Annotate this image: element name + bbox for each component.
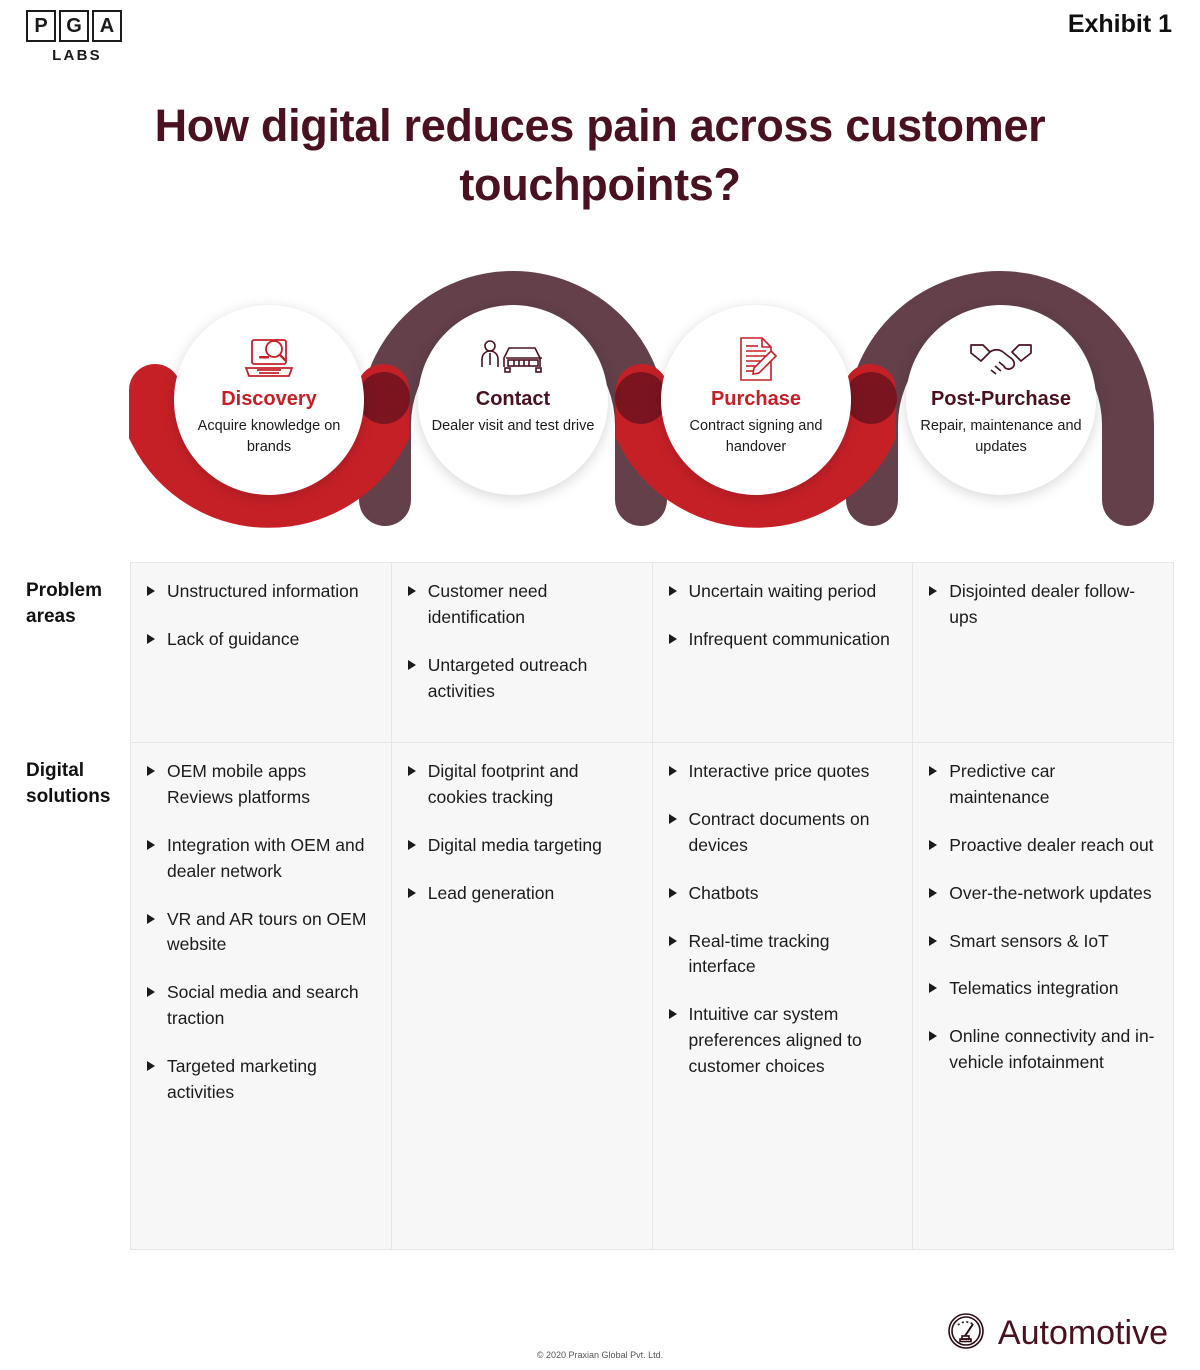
row-label-digital-solutions: Digital solutions — [26, 742, 130, 1250]
list-item-text: Over-the-network updates — [949, 883, 1151, 903]
triangle-bullet-icon — [669, 888, 677, 898]
list-item: Lack of guidance — [145, 627, 377, 653]
bullet-list: Interactive price quotes Contract docume… — [667, 759, 899, 1080]
list-item: Unstructured information — [145, 579, 377, 605]
stage-subtitle: Dealer visit and test drive — [428, 416, 598, 437]
list-item: Disjointed dealer follow-ups — [927, 579, 1159, 631]
cell-solutions-discovery: OEM mobile apps Reviews platforms Integr… — [131, 743, 392, 1249]
triangle-bullet-icon — [929, 1031, 937, 1041]
list-item: Untargeted outreach activities — [406, 653, 638, 705]
list-item-text: Disjointed dealer follow-ups — [949, 581, 1135, 627]
logo-letter-p: P — [26, 10, 56, 42]
list-item: Interactive price quotes — [667, 759, 899, 785]
triangle-bullet-icon — [669, 1009, 677, 1019]
solution-cells: OEM mobile apps Reviews platforms Integr… — [130, 742, 1174, 1250]
cell-solutions-post-purchase: Predictive car maintenance Proactive dea… — [913, 743, 1173, 1249]
cell-solutions-purchase: Interactive price quotes Contract docume… — [653, 743, 914, 1249]
list-item: Predictive car maintenance — [927, 759, 1159, 811]
list-item-text: Chatbots — [689, 883, 759, 903]
list-item: OEM mobile apps Reviews platforms — [145, 759, 377, 811]
row-problem-areas: Problem areas Unstructured information L… — [26, 562, 1174, 742]
list-item-text: Lack of guidance — [167, 629, 299, 649]
list-item: Telematics integration — [927, 976, 1159, 1002]
stage-title: Post-Purchase — [931, 388, 1071, 411]
list-item: Targeted marketing activities — [145, 1054, 377, 1106]
list-item: Digital footprint and cookies tracking — [406, 759, 638, 811]
list-item-text: Infrequent communication — [689, 629, 890, 649]
salesperson-car-icon — [478, 335, 548, 383]
list-item-text: Digital media targeting — [428, 835, 602, 855]
triangle-bullet-icon — [408, 840, 416, 850]
list-item-text: Interactive price quotes — [689, 761, 870, 781]
stage-nodes: Discovery Acquire knowledge on brands — [0, 250, 1200, 550]
list-item-text: OEM mobile apps Reviews platforms — [167, 761, 310, 807]
cell-problems-discovery: Unstructured information Lack of guidanc… — [131, 563, 392, 742]
sector-label: Automotive — [998, 1314, 1168, 1353]
list-item-text: Telematics integration — [949, 978, 1118, 998]
stage-node-discovery[interactable]: Discovery Acquire knowledge on brands — [174, 305, 364, 495]
stage-title: Purchase — [711, 388, 801, 411]
pga-labs-logo: P G A LABS — [26, 10, 128, 64]
bullet-list: Unstructured information Lack of guidanc… — [145, 579, 377, 653]
list-item-text: Integration with OEM and dealer network — [167, 835, 364, 881]
content-grid: Problem areas Unstructured information L… — [26, 562, 1174, 1250]
triangle-bullet-icon — [929, 936, 937, 946]
triangle-bullet-icon — [929, 766, 937, 776]
stage-subtitle: Contract signing and handover — [671, 416, 841, 458]
laptop-search-icon — [243, 335, 295, 383]
list-item: Online connectivity and in-vehicle infot… — [927, 1024, 1159, 1076]
list-item: Proactive dealer reach out — [927, 833, 1159, 859]
list-item-text: Real-time tracking interface — [689, 931, 830, 977]
list-item: Uncertain waiting period — [667, 579, 899, 605]
stage-subtitle: Acquire knowledge on brands — [184, 416, 354, 458]
list-item-text: Smart sensors & IoT — [949, 931, 1109, 951]
triangle-bullet-icon — [147, 914, 155, 924]
list-item: Infrequent communication — [667, 627, 899, 653]
stage-subtitle: Repair, maintenance and updates — [916, 416, 1086, 458]
list-item: Real-time tracking interface — [667, 929, 899, 981]
triangle-bullet-icon — [408, 888, 416, 898]
bullet-list: Uncertain waiting period Infrequent comm… — [667, 579, 899, 653]
cell-problems-purchase: Uncertain waiting period Infrequent comm… — [653, 563, 914, 742]
triangle-bullet-icon — [929, 586, 937, 596]
bullet-list: Digital footprint and cookies tracking D… — [406, 759, 638, 907]
triangle-bullet-icon — [147, 586, 155, 596]
bullet-list: Disjointed dealer follow-ups — [927, 579, 1159, 631]
list-item: Digital media targeting — [406, 833, 638, 859]
handshake-icon — [969, 335, 1033, 383]
list-item: Smart sensors & IoT — [927, 929, 1159, 955]
bullet-list: OEM mobile apps Reviews platforms Integr… — [145, 759, 377, 1106]
cell-problems-contact: Customer need identification Untargeted … — [392, 563, 653, 742]
list-item: Customer need identification — [406, 579, 638, 631]
triangle-bullet-icon — [929, 983, 937, 993]
page-title: How digital reduces pain across customer… — [60, 96, 1140, 215]
copyright-text: © 2020 Praxian Global Pvt. Ltd. — [0, 1350, 1200, 1360]
triangle-bullet-icon — [147, 840, 155, 850]
list-item-text: VR and AR tours on OEM website — [167, 909, 366, 955]
list-item: Social media and search traction — [145, 980, 377, 1032]
stage-node-purchase[interactable]: Purchase Contract signing and handover — [661, 305, 851, 495]
triangle-bullet-icon — [669, 814, 677, 824]
triangle-bullet-icon — [929, 888, 937, 898]
list-item-text: Targeted marketing activities — [167, 1056, 317, 1102]
list-item-text: Lead generation — [428, 883, 555, 903]
contract-pen-icon — [733, 335, 779, 383]
triangle-bullet-icon — [669, 766, 677, 776]
cell-problems-post-purchase: Disjointed dealer follow-ups — [913, 563, 1173, 742]
list-item-text: Uncertain waiting period — [689, 581, 877, 601]
list-item: Over-the-network updates — [927, 881, 1159, 907]
logo-letter-g: G — [59, 10, 89, 42]
list-item: VR and AR tours on OEM website — [145, 907, 377, 959]
bullet-list: Customer need identification Untargeted … — [406, 579, 638, 705]
triangle-bullet-icon — [929, 840, 937, 850]
logo-subtext: LABS — [26, 47, 128, 64]
row-label-problem-areas: Problem areas — [26, 562, 130, 742]
triangle-bullet-icon — [408, 766, 416, 776]
triangle-bullet-icon — [147, 1061, 155, 1071]
list-item: Integration with OEM and dealer network — [145, 833, 377, 885]
stage-title: Contact — [476, 388, 550, 411]
list-item-text: Predictive car maintenance — [949, 761, 1055, 807]
list-item-text: Social media and search traction — [167, 982, 359, 1028]
triangle-bullet-icon — [669, 586, 677, 596]
cell-solutions-contact: Digital footprint and cookies tracking D… — [392, 743, 653, 1249]
list-item-text: Untargeted outreach activities — [428, 655, 588, 701]
triangle-bullet-icon — [408, 586, 416, 596]
list-item-text: Proactive dealer reach out — [949, 835, 1153, 855]
problem-cells: Unstructured information Lack of guidanc… — [130, 562, 1174, 742]
list-item-text: Online connectivity and in-vehicle infot… — [949, 1026, 1154, 1072]
row-digital-solutions: Digital solutions OEM mobile apps Review… — [26, 742, 1174, 1250]
list-item: Lead generation — [406, 881, 638, 907]
list-item-text: Contract documents on devices — [689, 809, 870, 855]
triangle-bullet-icon — [669, 936, 677, 946]
logo-letter-a: A — [92, 10, 122, 42]
stage-title: Discovery — [221, 388, 317, 411]
list-item-text: Unstructured information — [167, 581, 359, 601]
triangle-bullet-icon — [147, 987, 155, 997]
triangle-bullet-icon — [669, 634, 677, 644]
triangle-bullet-icon — [147, 766, 155, 776]
list-item-text: Customer need identification — [428, 581, 548, 627]
list-item: Chatbots — [667, 881, 899, 907]
stage-node-post-purchase[interactable]: Post-Purchase Repair, maintenance and up… — [906, 305, 1096, 495]
triangle-bullet-icon — [147, 634, 155, 644]
list-item-text: Intuitive car system preferences aligned… — [689, 1004, 862, 1076]
infographic-page: P G A LABS Exhibit 1 How digital reduces… — [0, 0, 1200, 1370]
logo-letter-boxes: P G A — [26, 10, 128, 42]
stage-node-contact[interactable]: Contact Dealer visit and test drive — [418, 305, 608, 495]
triangle-bullet-icon — [408, 660, 416, 670]
list-item-text: Digital footprint and cookies tracking — [428, 761, 579, 807]
bullet-list: Predictive car maintenance Proactive dea… — [927, 759, 1159, 1076]
list-item: Contract documents on devices — [667, 807, 899, 859]
list-item: Intuitive car system preferences aligned… — [667, 1002, 899, 1080]
exhibit-label: Exhibit 1 — [1068, 10, 1172, 39]
